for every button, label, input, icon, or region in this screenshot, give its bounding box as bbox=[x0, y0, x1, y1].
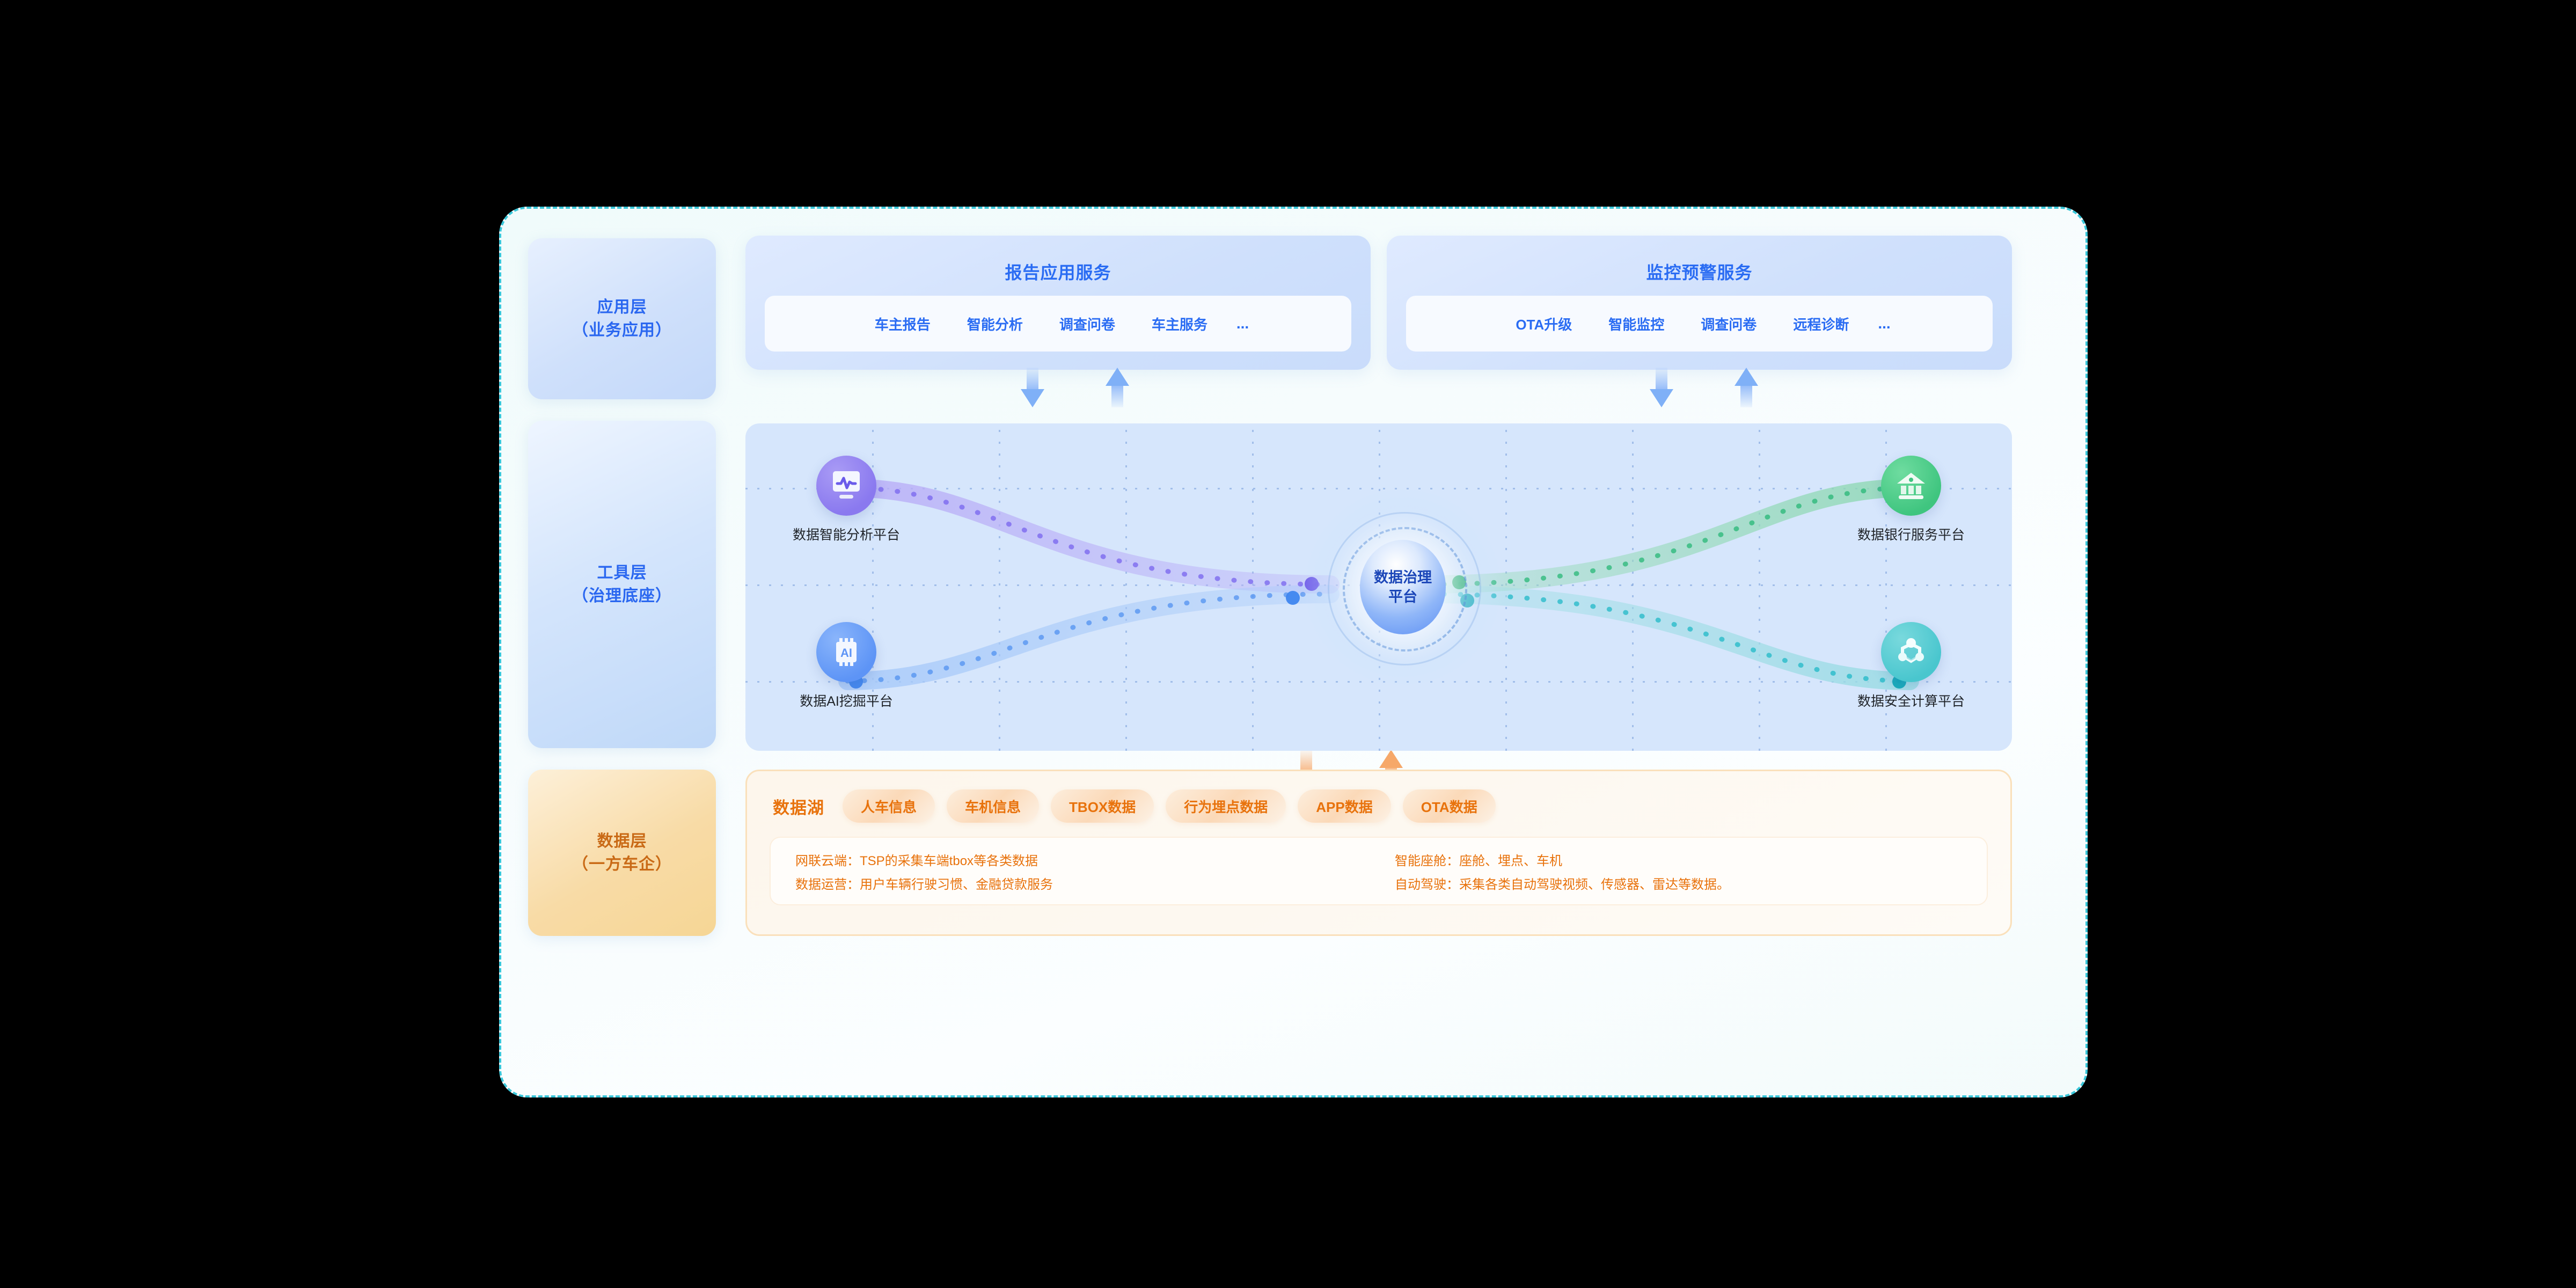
hub-label-line2: 平台 bbox=[1388, 589, 1417, 605]
service-card-report[interactable]: 报告应用服务 车主报告 智能分析 调查问卷 车主服务 ... bbox=[745, 236, 1371, 370]
data-lake-description-card: 网联云端：TSP的采集车端tbox等各类数据 数据运营：用户车辆行驶习惯、金融贷… bbox=[770, 837, 1988, 905]
node-data-analysis-platform[interactable]: 数据智能分析平台 bbox=[777, 456, 916, 544]
data-lake-panel: 数据湖 人车信息 车机信息 TBOX数据 行为埋点数据 APP数据 OTA数据 … bbox=[745, 770, 2012, 936]
service-tag[interactable]: 智能监控 bbox=[1590, 314, 1682, 334]
layer-card-data[interactable]: 数据层 （一方车企） bbox=[528, 770, 716, 936]
arrow-up-icon bbox=[1735, 368, 1758, 407]
service-card-report-title: 报告应用服务 bbox=[745, 236, 1371, 284]
node-label: 数据AI挖掘平台 bbox=[777, 691, 916, 710]
layer-data-sub: （一方车企） bbox=[572, 853, 672, 876]
monitor-pulse-icon bbox=[816, 456, 876, 516]
hub-core: 数据治理 平台 bbox=[1360, 540, 1446, 634]
description-line: 数据运营：用户车辆行驶习惯、金融贷款服务 bbox=[795, 873, 1363, 897]
data-lake-tag[interactable]: 人车信息 bbox=[843, 789, 935, 823]
ai-chip-icon: AI bbox=[816, 622, 876, 682]
service-card-monitor-title: 监控预警服务 bbox=[1387, 236, 2012, 284]
layer-tool-name: 工具层 bbox=[572, 561, 672, 585]
architecture-frame: 应用层 （业务应用） 工具层 （治理底座） 数据层 （一方车企） 报告应用服务 … bbox=[499, 207, 2088, 1097]
description-line: 自动驾驶：采集各类自动驾驶视频、传感器、雷达等数据。 bbox=[1395, 873, 1962, 897]
tool-layer-panel: 数据智能分析平台 AI 数据AI挖掘平台 bbox=[745, 423, 2012, 751]
arrow-down-icon bbox=[1650, 368, 1673, 407]
layer-tool-sub: （治理底座） bbox=[572, 584, 672, 608]
data-lake-tag[interactable]: 车机信息 bbox=[947, 789, 1039, 823]
description-column-left: 网联云端：TSP的采集车端tbox等各类数据 数据运营：用户车辆行驶习惯、金融贷… bbox=[795, 850, 1363, 904]
service-tag[interactable]: 车主报告 bbox=[857, 314, 949, 334]
arrow-up-icon bbox=[1106, 368, 1129, 407]
service-card-report-tags: 车主报告 智能分析 调查问卷 车主服务 ... bbox=[765, 296, 1351, 352]
data-lake-tag[interactable]: TBOX数据 bbox=[1051, 789, 1154, 823]
service-card-monitor[interactable]: 监控预警服务 OTA升级 智能监控 调查问卷 远程诊断 ... bbox=[1387, 236, 2012, 370]
service-tag[interactable]: 调查问卷 bbox=[1041, 314, 1133, 334]
bank-icon bbox=[1881, 456, 1941, 516]
data-lake-title: 数据湖 bbox=[773, 794, 824, 818]
layer-card-application[interactable]: 应用层 （业务应用） bbox=[528, 238, 716, 399]
data-lake-tag[interactable]: OTA数据 bbox=[1403, 789, 1496, 823]
diagram-canvas: 应用层 （业务应用） 工具层 （治理底座） 数据层 （一方车企） 报告应用服务 … bbox=[0, 0, 2576, 1288]
service-tag[interactable]: 远程诊断 bbox=[1775, 314, 1867, 334]
node-label: 数据智能分析平台 bbox=[777, 524, 916, 544]
node-data-security-platform[interactable]: 数据安全计算平台 bbox=[1841, 622, 1981, 710]
node-label: 数据银行服务平台 bbox=[1841, 524, 1981, 544]
node-label: 数据安全计算平台 bbox=[1841, 691, 1981, 710]
description-line: 智能座舱：座舱、埋点、车机 bbox=[1395, 850, 1962, 873]
service-tag[interactable]: 调查问卷 bbox=[1682, 314, 1775, 334]
arrow-down-icon bbox=[1021, 368, 1044, 407]
hub-data-governance-platform[interactable]: 数据治理 平台 bbox=[1322, 507, 1483, 668]
service-card-monitor-tags: OTA升级 智能监控 调查问卷 远程诊断 ... bbox=[1406, 296, 1993, 352]
service-tag[interactable]: 智能分析 bbox=[949, 314, 1041, 334]
shield-nodes-icon bbox=[1881, 622, 1941, 682]
svg-text:AI: AI bbox=[840, 646, 852, 660]
layer-application-name: 应用层 bbox=[572, 296, 672, 319]
node-data-ai-mining-platform[interactable]: AI 数据AI挖掘平台 bbox=[777, 622, 916, 710]
hub-label-line1: 数据治理 bbox=[1374, 569, 1432, 586]
layer-data-name: 数据层 bbox=[572, 830, 672, 853]
data-lake-tag[interactable]: APP数据 bbox=[1298, 789, 1391, 823]
node-data-bank-platform[interactable]: 数据银行服务平台 bbox=[1841, 456, 1981, 544]
service-tag-more[interactable]: ... bbox=[1867, 315, 1901, 332]
layer-card-tool[interactable]: 工具层 （治理底座） bbox=[528, 421, 716, 748]
service-tag[interactable]: 车主服务 bbox=[1133, 314, 1226, 334]
service-tag[interactable]: OTA升级 bbox=[1497, 314, 1590, 334]
description-column-right: 智能座舱：座舱、埋点、车机 自动驾驶：采集各类自动驾驶视频、传感器、雷达等数据。 bbox=[1363, 850, 1962, 904]
layer-application-sub: （业务应用） bbox=[572, 319, 672, 342]
data-lake-tag-row: 数据湖 人车信息 车机信息 TBOX数据 行为埋点数据 APP数据 OTA数据 bbox=[747, 771, 2010, 823]
service-tag-more[interactable]: ... bbox=[1226, 315, 1260, 332]
description-line: 网联云端：TSP的采集车端tbox等各类数据 bbox=[795, 850, 1363, 873]
data-lake-tag[interactable]: 行为埋点数据 bbox=[1166, 789, 1286, 823]
